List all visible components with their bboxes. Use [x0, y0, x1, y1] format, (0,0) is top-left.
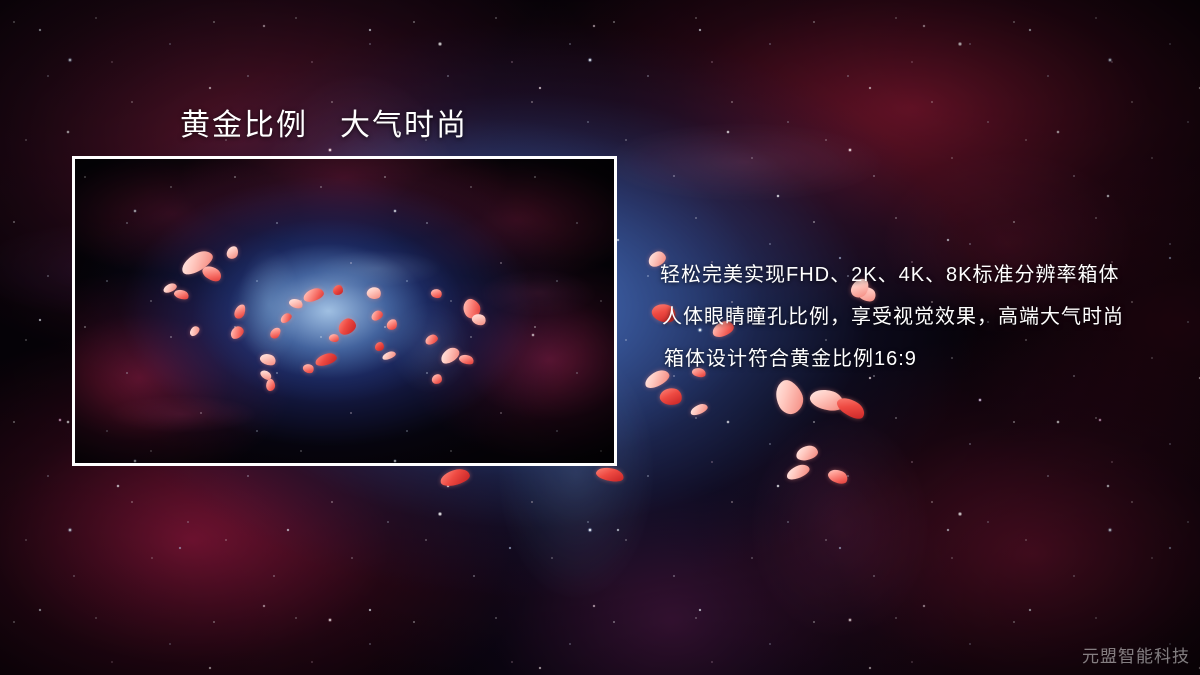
petal-shape — [834, 393, 868, 423]
petal-shape — [658, 386, 683, 407]
presentation-slide: 黄金比例 大气时尚 轻松完美实现FHD、2K、4K、8K标准分辨率箱体 人体眼睛… — [0, 0, 1200, 675]
petal-shape — [785, 462, 812, 481]
body-line-2: 人体眼睛瞳孔比例，享受视觉效果，高端大气时尚 — [660, 296, 1160, 338]
watermark-text: 元盟智能科技 — [1082, 642, 1190, 667]
page-title: 黄金比例 大气时尚 — [180, 100, 468, 144]
petal-shape — [595, 465, 625, 484]
body-copy-block: 轻松完美实现FHD、2K、4K、8K标准分辨率箱体 人体眼睛瞳孔比例，享受视觉效… — [660, 254, 1160, 380]
petal-shape — [439, 467, 471, 488]
petal-shape — [826, 466, 850, 486]
petal-shape — [795, 444, 819, 462]
body-line-1: 轻松完美实现FHD、2K、4K、8K标准分辨率箱体 — [660, 254, 1160, 296]
body-line-3: 箱体设计符合黄金比例16:9 — [660, 338, 1160, 380]
framed-image-panel — [72, 156, 617, 466]
petal-shape — [770, 376, 809, 418]
panel-vignette — [75, 159, 614, 463]
petal-shape — [689, 402, 709, 417]
petal-shape — [808, 385, 847, 415]
